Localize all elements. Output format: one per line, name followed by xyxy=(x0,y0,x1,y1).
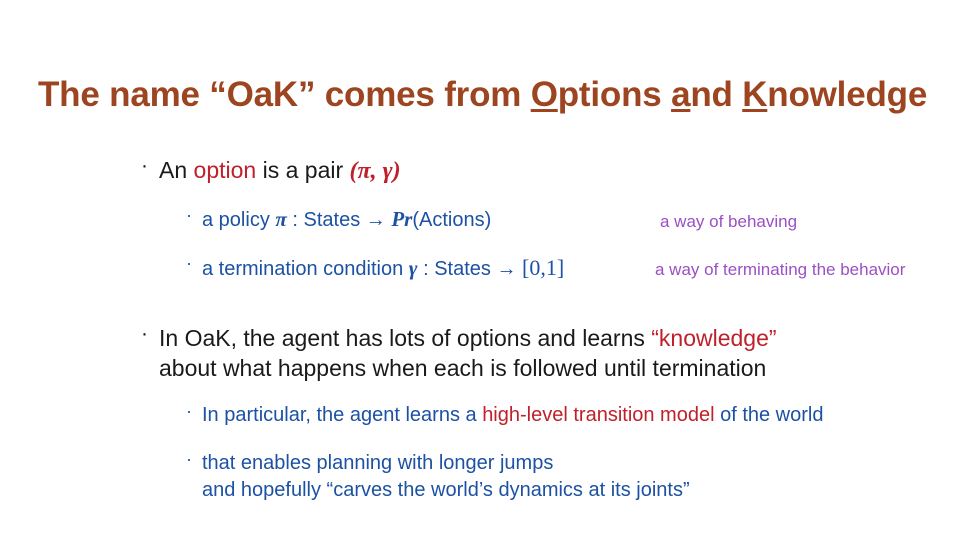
bullet-in-particular-text: In particular, the agent learns a high-l… xyxy=(202,402,946,429)
bullet-policy-actions: (Actions) xyxy=(412,209,491,231)
bullet-option-seg-1: An xyxy=(159,157,194,183)
bullet-termination-text: a termination condition γ : States → [0,… xyxy=(202,254,656,283)
bullet-policy: · a policy π : States → Pr(Actions) xyxy=(186,206,606,234)
bullet-in-particular-highlight: high-level transition model xyxy=(482,404,714,426)
slide-title: The name “OaK” comes from Options and Kn… xyxy=(38,73,958,117)
annotation-termination-note: a way of terminating the behavior xyxy=(655,260,980,280)
arrow-icon: → xyxy=(496,258,516,280)
bullet-oak-line1a: In OaK, the agent has lots of options an… xyxy=(159,325,651,351)
bullet-policy-text: a policy π : States → Pr(Actions) xyxy=(202,206,606,234)
bullet-termination-seg-1: a termination condition xyxy=(202,258,409,280)
bullet-option-seg-4: (π, γ) xyxy=(350,158,401,184)
annotation-policy-note: a way of behaving xyxy=(660,212,960,232)
bullet-marker-icon: · xyxy=(186,206,202,224)
slide-title-part3: nd xyxy=(690,75,742,114)
annotation-termination-note-text: a way of terminating the behavior xyxy=(655,260,905,279)
bullet-policy-pr: Pr xyxy=(391,207,412,231)
bullet-option-seg-2: option xyxy=(194,157,257,183)
annotation-policy-note-text: a way of behaving xyxy=(660,212,797,231)
slide-title-underline-k: K xyxy=(742,75,767,114)
bullet-option: · An option is a pair (π, γ) xyxy=(141,155,561,186)
bullet-termination-gamma: γ xyxy=(409,256,418,280)
bullet-in-particular: · In particular, the agent learns a high… xyxy=(186,402,946,429)
bullet-policy-pi: π xyxy=(275,207,286,231)
bullet-in-particular-part-a: In particular, the agent learns a xyxy=(202,404,482,426)
bullet-enables-planning-text: that enables planning with longer jumpsa… xyxy=(202,450,886,504)
bullet-marker-icon: · xyxy=(186,254,202,272)
slide-title-underline-a: a xyxy=(671,75,690,114)
bullet-enables-planning: · that enables planning with longer jump… xyxy=(186,450,886,504)
bullet-marker-icon: · xyxy=(186,402,202,420)
slide-title-part1: The name “OaK” comes from xyxy=(38,75,531,114)
bullet-option-seg-3: is a pair xyxy=(256,157,349,183)
arrow-icon: → xyxy=(366,209,386,231)
bullet-option-text: An option is a pair (π, γ) xyxy=(159,155,561,186)
bullet-enables-line1: that enables planning with longer jumps xyxy=(202,452,553,474)
slide-title-part2: ptions xyxy=(558,75,671,114)
slide-title-part4: nowledge xyxy=(767,75,927,114)
bullet-oak-line2: about what happens when each is followed… xyxy=(159,355,766,381)
bullet-oak-knowledge: · In OaK, the agent has lots of options … xyxy=(141,323,931,383)
slide-title-underline-o: O xyxy=(531,75,558,114)
bullet-oak-knowledge-text: In OaK, the agent has lots of options an… xyxy=(159,323,931,383)
bullet-oak-knowledge-highlight: “knowledge” xyxy=(651,325,776,351)
bullet-policy-seg-1: a policy xyxy=(202,209,275,231)
bullet-in-particular-part-c: of the world xyxy=(715,404,824,426)
bullet-marker-icon: · xyxy=(141,323,159,344)
slide-canvas: The name “OaK” comes from Options and Kn… xyxy=(0,0,980,551)
bullet-marker-icon: · xyxy=(186,450,202,468)
bullet-policy-seg-3: : States xyxy=(287,209,366,231)
bullet-termination-seg-3: : States xyxy=(418,258,497,280)
bullet-marker-icon: · xyxy=(141,155,159,176)
bullet-termination-interval: [0,1] xyxy=(522,255,564,280)
bullet-enables-line2: and hopefully “carves the world’s dynami… xyxy=(202,479,690,501)
bullet-termination: · a termination condition γ : States → [… xyxy=(186,254,656,283)
